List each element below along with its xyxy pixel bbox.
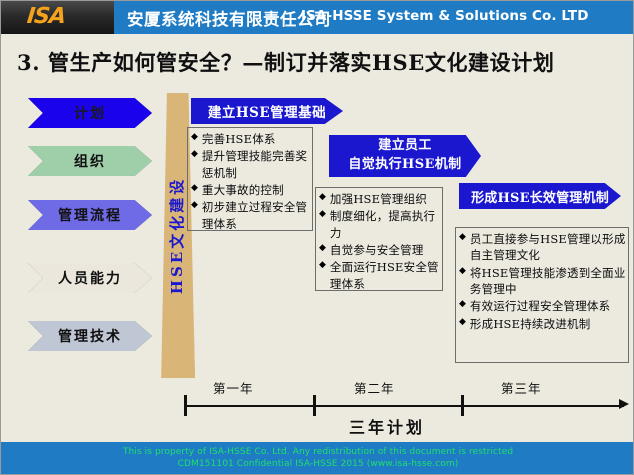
bullet-text: 形成HSE持续改进机制: [470, 316, 626, 332]
list-item: ◆ 制度细化，提高执行力: [319, 208, 440, 241]
slide-footer: This is property of ISA-HSSE Co. Ltd. An…: [1, 442, 634, 474]
diamond-bullet-icon: ◆: [191, 148, 198, 162]
list-item: ◆ 重大事故的控制: [191, 182, 310, 198]
stage-chevron-organization: 组织: [28, 146, 152, 176]
bullet-text: 提升管理技能完善奖惩机制: [202, 148, 310, 181]
bullet-text: 将HSE管理技能渗透到全面业务管理中: [470, 265, 626, 298]
phase-banner-2: 建立员工 自觉执行HSE机制: [329, 135, 481, 177]
list-item: ◆ 员工直接参与HSE管理以形成自主管理文化: [459, 231, 626, 264]
stage-chevron-plan: 计划: [28, 98, 152, 128]
phase-banner-1-line-1: 建立HSE管理基础: [208, 101, 326, 121]
footer-confidential-line: CDM151101 Confidential ISA-HSSE 2015 (ww…: [178, 458, 459, 470]
timeline-label-year2: 第二年: [354, 378, 395, 397]
list-item: ◆ 加强HSE管理组织: [319, 191, 440, 207]
diamond-bullet-icon: ◆: [459, 231, 466, 245]
phase-banner-2-line-1: 建立员工: [378, 137, 432, 156]
stage-label-management-technology: 管理技术: [58, 326, 122, 346]
timeline-tick-year2: [313, 395, 316, 416]
phase-banner-3: 形成HSE长效管理机制: [459, 183, 621, 209]
phase-banner-3-line-1: 形成HSE长效管理机制: [471, 187, 609, 206]
list-item: ◆ 全面运行HSE安全管理体系: [319, 259, 440, 292]
diamond-bullet-icon: ◆: [319, 242, 326, 256]
list-item: ◆ 将HSE管理技能渗透到全面业务管理中: [459, 265, 626, 298]
list-item: ◆ 初步建立过程安全管理体系: [191, 199, 310, 232]
diamond-bullet-icon: ◆: [459, 265, 466, 279]
bullet-text: 加强HSE管理组织: [330, 191, 440, 207]
list-item: ◆ 形成HSE持续改进机制: [459, 316, 626, 332]
timeline-tick-year1: [184, 395, 187, 416]
diamond-bullet-icon: ◆: [319, 191, 326, 205]
diamond-bullet-icon: ◆: [191, 182, 198, 196]
phase-bullets-2: ◆ 加强HSE管理组织 ◆ 制度细化，提高执行力 ◆ 自觉参与安全管理 ◆ 全面…: [315, 187, 443, 291]
diamond-bullet-icon: ◆: [319, 208, 326, 222]
stage-label-personnel-capability: 人员能力: [58, 268, 122, 288]
footer-copyright-line: This is property of ISA-HSSE Co. Ltd. An…: [123, 446, 513, 458]
bullet-text: 员工直接参与HSE管理以形成自主管理文化: [470, 231, 626, 264]
diamond-bullet-icon: ◆: [319, 259, 326, 273]
page-title: 3. 管生产如何管安全？—制订并落实HSE文化建设计划: [17, 47, 627, 77]
timeline-label-year3: 第三年: [501, 378, 542, 397]
stage-label-plan: 计划: [74, 103, 106, 123]
stage-chevron-personnel-capability: 人员能力: [28, 263, 152, 293]
timeline-label-year1: 第一年: [213, 378, 254, 397]
bullet-text: 全面运行HSE安全管理体系: [330, 259, 440, 292]
diamond-bullet-icon: ◆: [191, 199, 198, 213]
stage-chevron-management-technology: 管理技术: [28, 321, 152, 351]
bullet-text: 制度细化，提高执行力: [330, 208, 440, 241]
list-item: ◆ 完善HSE体系: [191, 131, 310, 147]
three-year-plan-label: 三年计划: [349, 414, 425, 438]
stage-label-organization: 组织: [74, 151, 106, 171]
stage-label-management-process: 管理流程: [58, 205, 122, 225]
timeline-tick-year3: [461, 395, 464, 416]
phase-banner-1: 建立HSE管理基础: [191, 98, 343, 124]
phase-bullets-3: ◆ 员工直接参与HSE管理以形成自主管理文化 ◆ 将HSE管理技能渗透到全面业务…: [455, 227, 629, 363]
timeline-axis: [184, 405, 624, 407]
diamond-bullet-icon: ◆: [459, 298, 466, 312]
phase-bullets-1: ◆ 完善HSE体系 ◆ 提升管理技能完善奖惩机制 ◆ 重大事故的控制 ◆ 初步建…: [187, 127, 313, 231]
bullet-text: 重大事故的控制: [202, 182, 310, 198]
bullet-text: 初步建立过程安全管理体系: [202, 199, 310, 232]
presentation-slide: ISA 安厦系统科技有限责任公司 ISA-HSSE System & Solut…: [0, 0, 634, 475]
list-item: ◆ 自觉参与安全管理: [319, 242, 440, 258]
bullet-text: 有效运行过程安全管理体系: [470, 298, 626, 314]
timeline-arrow-icon: [619, 399, 629, 409]
bullet-text: 自觉参与安全管理: [330, 242, 440, 258]
phase-banner-2-line-2: 自觉执行HSE机制: [348, 156, 461, 175]
list-item: ◆ 提升管理技能完善奖惩机制: [191, 148, 310, 181]
stage-chevron-management-process: 管理流程: [28, 200, 152, 230]
list-item: ◆ 有效运行过程安全管理体系: [459, 298, 626, 314]
slide-header: ISA 安厦系统科技有限责任公司 ISA-HSSE System & Solut…: [1, 1, 634, 34]
isa-logo-text: ISA: [26, 4, 67, 29]
diamond-bullet-icon: ◆: [459, 316, 466, 330]
company-name-english: ISA-HSSE System & Solutions Co. LTD: [301, 8, 589, 24]
hse-culture-band-label: HSE文化建设: [167, 177, 188, 294]
bullet-text: 完善HSE体系: [202, 131, 310, 147]
diamond-bullet-icon: ◆: [191, 131, 198, 145]
company-logo: ISA: [1, 1, 114, 34]
